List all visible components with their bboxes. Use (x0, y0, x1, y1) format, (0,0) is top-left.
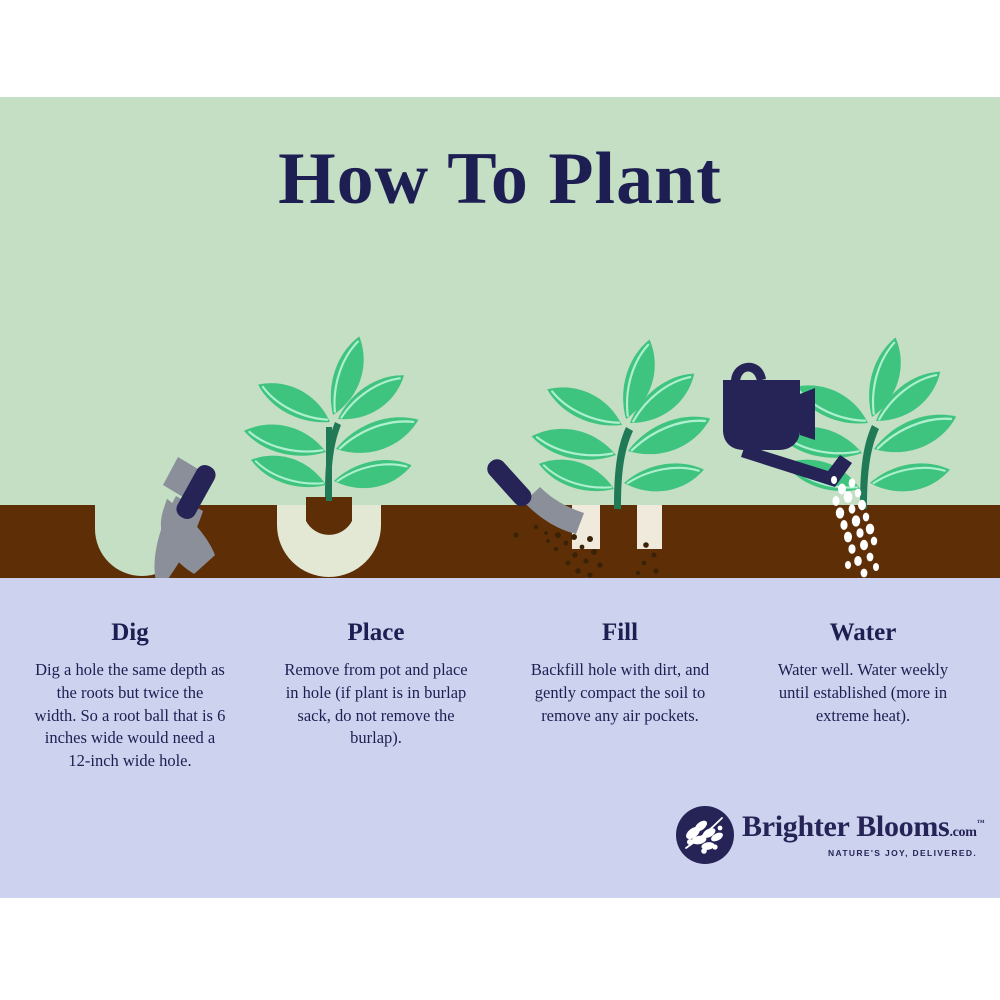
trademark-symbol: ™ (977, 818, 985, 827)
brand-suffix: .com (949, 825, 976, 840)
step-body-place: Remove from pot and place in hole (if pl… (281, 659, 471, 750)
plant-stem (860, 425, 879, 509)
root-ball (306, 497, 352, 535)
step-column-fill: Fill Backfill hole with dirt, and gently… (495, 620, 745, 727)
step-column-water: Water Water well. Water weekly until est… (738, 620, 988, 727)
page-title: How To Plant (0, 142, 1000, 216)
step-column-dig: Dig Dig a hole the same depth as the roo… (5, 620, 255, 773)
step-heading-water: Water (738, 620, 988, 645)
plant-leaves (241, 333, 424, 497)
step-heading-place: Place (251, 620, 501, 645)
trowel-handle (484, 456, 536, 510)
step-body-dig: Dig a hole the same depth as the roots b… (34, 659, 226, 773)
brand-logo[interactable]: Brighter Blooms.com™ NATURE'S JOY, DELIV… (676, 806, 952, 868)
plant-leaves (529, 336, 716, 499)
scene-dig (95, 457, 219, 578)
step-body-water: Water well. Water weekly until establish… (772, 659, 954, 727)
leaf-branch-icon (676, 806, 734, 864)
step-column-place: Place Remove from pot and place in hole … (251, 620, 501, 750)
step-heading-dig: Dig (5, 620, 255, 645)
step-heading-fill: Fill (495, 620, 745, 645)
watering-can-icon (723, 363, 852, 487)
brand-name: Brighter Blooms.com™ (742, 812, 984, 842)
brand-primary: Brighter Blooms (742, 810, 949, 843)
poster: How To Plant Dig Dig a hole the same dep… (0, 0, 1000, 1000)
step-body-fill: Backfill hole with dirt, and gently comp… (527, 659, 713, 727)
plant-stem (614, 427, 633, 509)
fill-hole-right (637, 505, 662, 549)
brand-tagline: NATURE'S JOY, DELIVERED. (828, 848, 977, 858)
